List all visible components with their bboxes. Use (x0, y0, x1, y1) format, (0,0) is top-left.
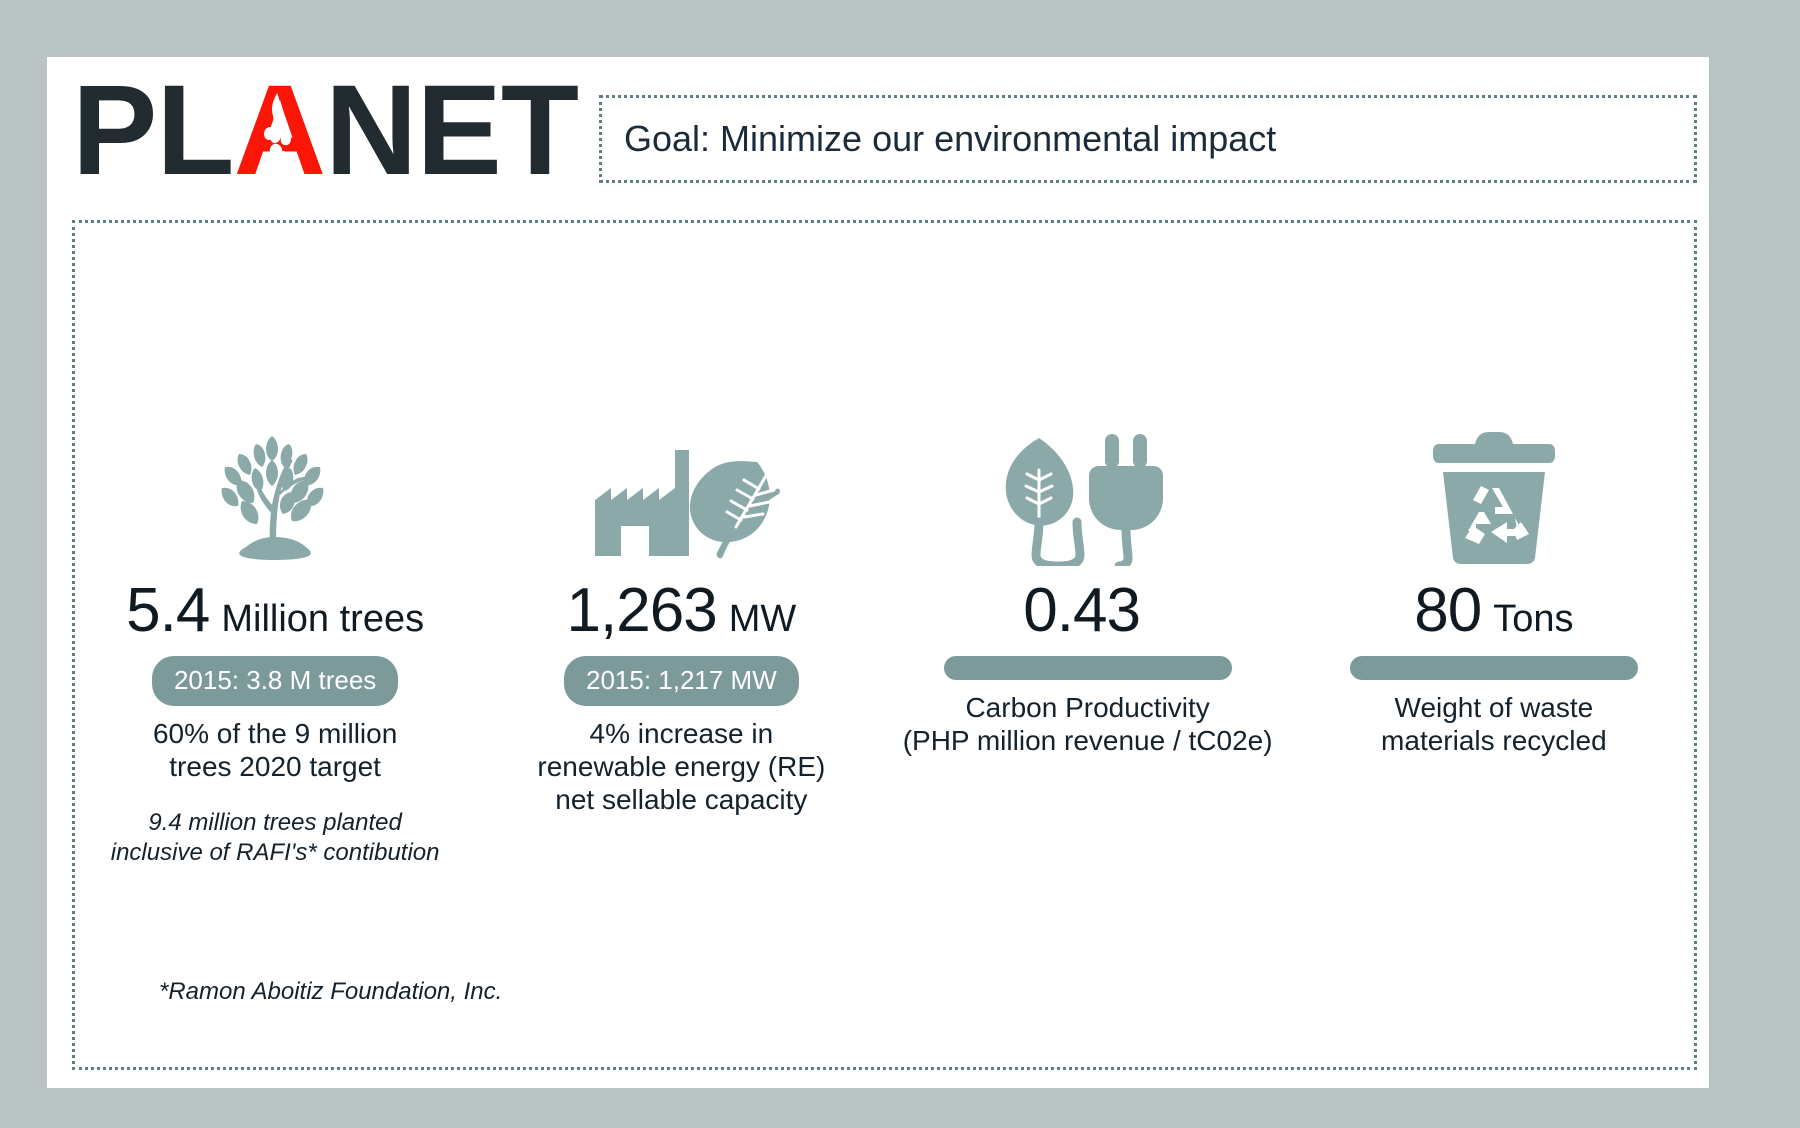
title-letter-a-glyph: A (234, 59, 325, 202)
metric-baseline-badge (944, 656, 1232, 680)
metric-unit: Tons (1493, 600, 1573, 638)
factory-leaf-icon-graphic (581, 430, 781, 566)
metric-number: 5.4 (126, 580, 209, 642)
metric-card-carbon-productivity: 0.43 Carbon Productivity (PHP million re… (885, 220, 1291, 782)
metric-value-carbon: 0.43 (1023, 580, 1152, 642)
title-letter-a-accent: A (234, 67, 325, 195)
recycle-bin-icon-graphic (1429, 430, 1559, 566)
metric-unit: MW (729, 600, 797, 638)
factory-leaf-icon (581, 418, 781, 566)
metric-card-renewable-capacity: 1,263 MW 2015: 1,217 MW 4% increase in r… (478, 220, 884, 840)
tree-icon (200, 418, 350, 566)
metric-caption: Weight of waste materials recycled (1381, 692, 1607, 758)
metrics-row: 5.4 Million trees 2015: 3.8 M trees 60% … (72, 220, 1697, 1070)
goal-banner: Goal: Minimize our environmental impact (599, 95, 1697, 183)
metric-value-trees: 5.4 Million trees (126, 580, 424, 642)
footnote-text: *Ramon Aboitiz Foundation, Inc. (159, 978, 502, 1006)
recycle-bin-icon (1429, 418, 1559, 566)
metric-number: 80 (1414, 580, 1481, 642)
page-title: PLANET (72, 67, 578, 195)
metric-note: 9.4 million trees planted inclusive of R… (111, 808, 440, 868)
metric-unit: Million trees (221, 600, 424, 638)
metric-caption: Carbon Productivity (PHP million revenue… (903, 692, 1273, 758)
metric-card-waste-recycled: 80 Tons Weight of waste materials recycl… (1291, 220, 1697, 782)
metric-caption: 60% of the 9 million trees 2020 target (153, 718, 397, 784)
metric-baseline-badge: 2015: 1,217 MW (564, 656, 799, 706)
goal-text: Goal: Minimize our environmental impact (624, 118, 1276, 160)
slide-card: PLANET Goal: Minimize our environmental … (47, 57, 1709, 1088)
metric-value-waste: 80 Tons (1414, 580, 1573, 642)
slide-header: PLANET Goal: Minimize our environmental … (47, 57, 1709, 212)
metric-value-capacity: 1,263 MW (567, 580, 797, 642)
metric-card-trees: 5.4 Million trees 2015: 3.8 M trees 60% … (72, 220, 478, 868)
leaf-plug-icon (993, 418, 1183, 566)
metric-baseline-badge: 2015: 3.8 M trees (152, 656, 398, 706)
title-part-one: PL (72, 59, 234, 202)
metric-caption: 4% increase in renewable energy (RE) net… (537, 718, 825, 816)
title-part-two: NET (325, 59, 578, 202)
tree-icon-graphic (200, 418, 350, 566)
leaf-plug-icon-graphic (993, 430, 1183, 566)
metric-number: 1,263 (567, 580, 717, 642)
metric-number: 0.43 (1023, 580, 1140, 642)
metric-baseline-badge (1350, 656, 1638, 680)
